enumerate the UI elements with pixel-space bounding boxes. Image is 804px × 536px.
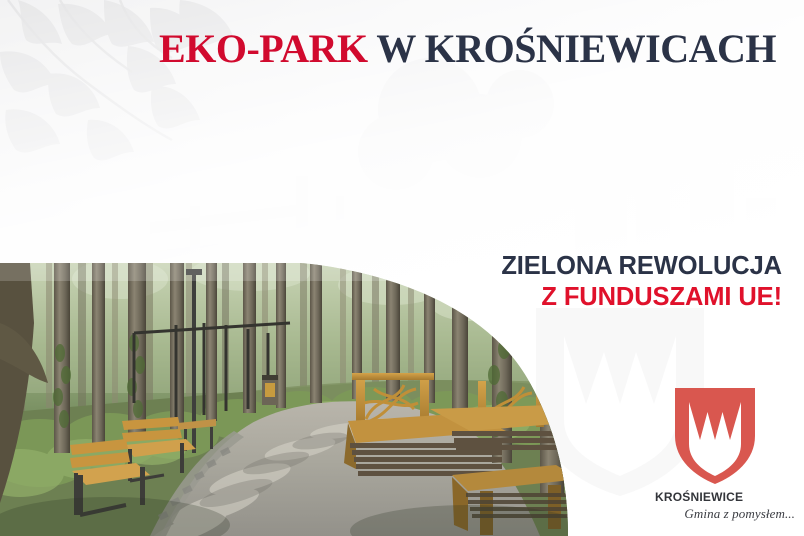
title-highlight: EKO-PARK — [159, 26, 368, 71]
krosniewice-logo: KROŚNIEWICE Gmina z pomysłem... — [655, 386, 795, 514]
logo-tagline: Gmina z pomysłem... — [655, 506, 795, 522]
shield-crest-icon — [673, 386, 757, 491]
logo-municipality-name: KROŚNIEWICE — [655, 490, 795, 504]
park-photo — [0, 263, 585, 536]
title-rest: W KROŚNIEWICACH — [368, 26, 776, 71]
poster-canvas: EKO-PARK W KROŚNIEWICACH ZIELONA REWOLUC… — [0, 0, 804, 536]
page-title: EKO-PARK W KROŚNIEWICACH — [0, 26, 776, 72]
